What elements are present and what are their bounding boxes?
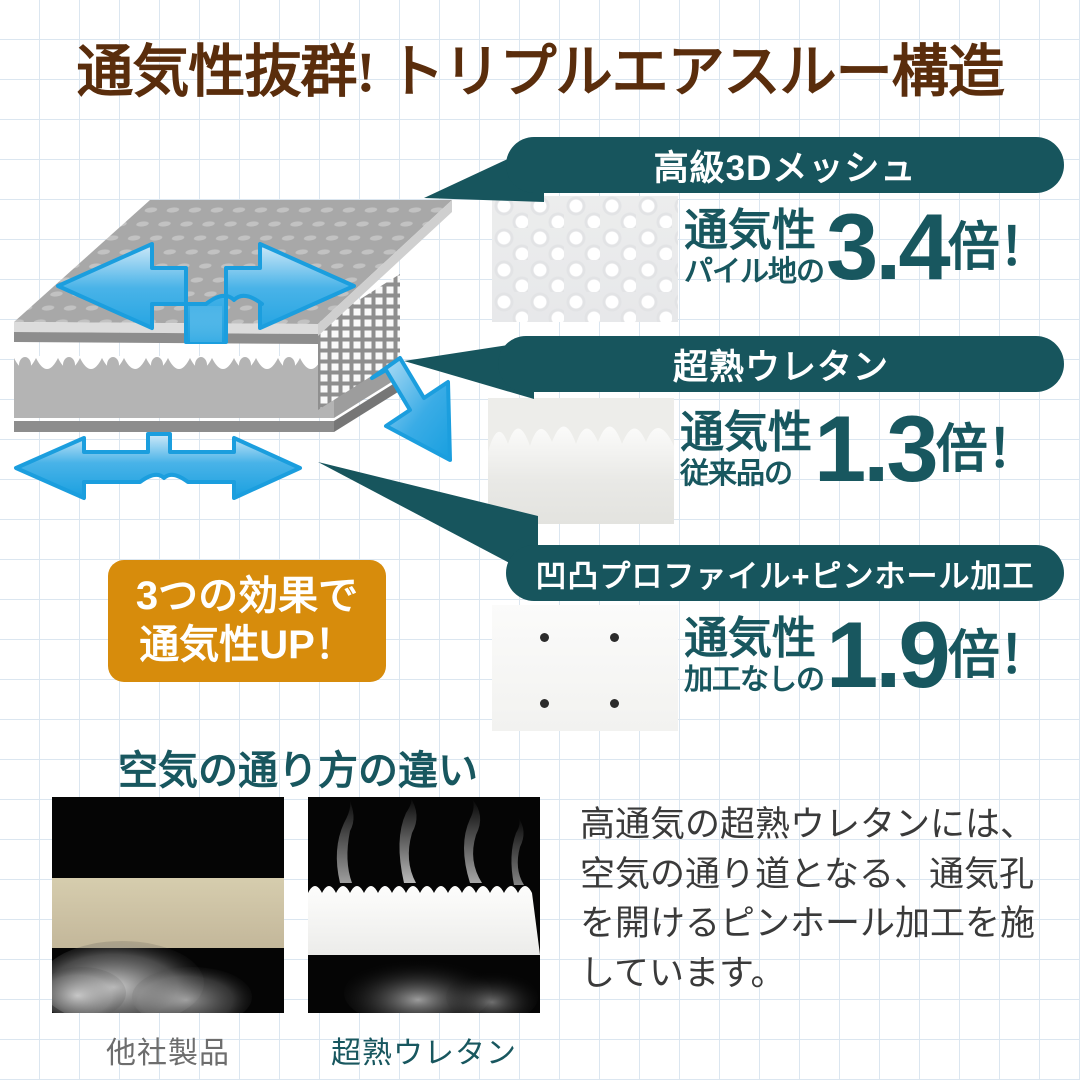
stat-number: 1.9 (826, 616, 948, 695)
stat-label: 通気性 (684, 617, 816, 661)
pinhole-dot (540, 699, 549, 708)
banner-tail-3 (318, 466, 538, 596)
banner-urethane[interactable]: 超熟ウレタン (498, 336, 1064, 392)
smoke-test-choujuku-photo (308, 797, 540, 1013)
pinhole-dot (610, 633, 619, 642)
pinhole-dot (610, 699, 619, 708)
stat-unit: 倍！ (948, 617, 1050, 695)
pinhole-dot (540, 633, 549, 642)
infographic-stage: 通気性抜群! トリプルエアスルー構造 (0, 0, 1080, 1080)
banner-3d-mesh[interactable]: 高級3Dメッシュ (506, 137, 1064, 193)
pinhole-foam-swatch (492, 605, 678, 731)
stat-pinhole: 通気性 加工なしの 1.9 倍！ (684, 616, 1050, 695)
caption-competitor: 他社製品 (52, 1028, 284, 1072)
caption-choujuku: 超熟ウレタン (308, 1028, 540, 1072)
compare-description: 高通気の超熟ウレタンには、空気の通り道となる、通気孔を開けるピンホール加工を施し… (580, 800, 1050, 999)
stat-compare: 加工なしの (684, 666, 824, 695)
smoke-test-competitor-photo (52, 797, 284, 1013)
badge-line-2: 通気性UP！ (139, 621, 355, 670)
banner-pinhole[interactable]: 凹凸プロファイル+ピンホール加工 (506, 545, 1064, 601)
compare-section-title: 空気の通り方の違い (118, 738, 478, 796)
